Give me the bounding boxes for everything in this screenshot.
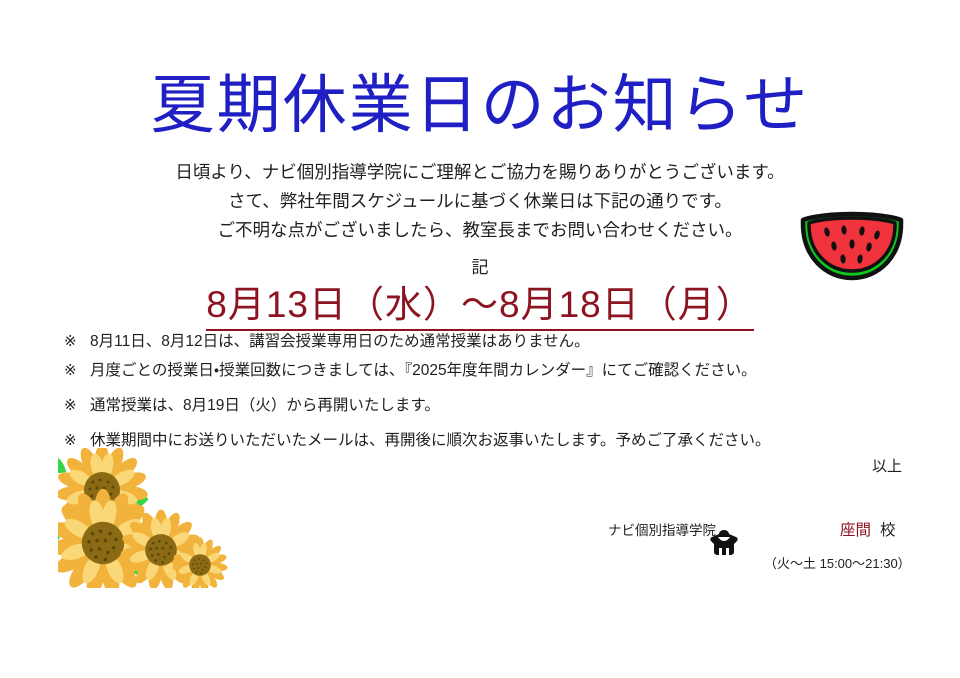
note-marker-icon: ※ (64, 362, 90, 380)
intro-line-1: 日頃より、ナビ個別指導学院にご理解とご協力を賜りありがとうございます。 (0, 158, 960, 187)
note-text: 8月11日、8月12日は、講習会授業専用日のため通常授業はありません。 (90, 333, 894, 351)
notes-list: ※ 8月11日、8月12日は、講習会授業専用日のため通常授業はありません。 ※ … (64, 333, 894, 450)
note-item: ※ 8月11日、8月12日は、講習会授業専用日のため通常授業はありません。 (64, 333, 894, 351)
closure-date-range: 8月13日（水）〜8月18日（月） (0, 283, 960, 331)
page-title: 夏期休業日のお知らせ (0, 72, 960, 139)
note-marker-icon: ※ (64, 397, 90, 415)
business-hours: （火〜土 15:00〜21:30） (764, 553, 911, 572)
sunflower-decoration-icon (58, 448, 243, 588)
note-text: 月度ごとの授業日・授業回数につきましては、『2025年度年間カレンダー』にてご確… (90, 362, 894, 380)
school-branch: 座間校 (840, 518, 896, 540)
brand-name: ナビ個別指導学院 (608, 519, 716, 539)
note-marker-icon: ※ (64, 333, 90, 351)
closure-date-text: 8月13日（水）〜8月18日（月） (206, 283, 753, 331)
navi-logo-mark-icon (708, 528, 740, 558)
note-item: ※ 月度ごとの授業日・授業回数につきましては、『2025年度年間カレンダー』にて… (64, 362, 894, 380)
note-item: ※ 通常授業は、8月19日（火）から再開いたします。 (64, 397, 894, 415)
watermelon-icon (797, 204, 907, 284)
note-text: 通常授業は、8月19日（火）から再開いたします。 (90, 397, 894, 415)
closing-label: 以上 (872, 455, 902, 476)
school-branch-name: 座間 (840, 522, 871, 539)
school-branch-suffix: 校 (880, 522, 896, 539)
notice-page: 夏期休業日のお知らせ 日頃より、ナビ個別指導学院にご理解とご協力を賜りありがとう… (0, 0, 960, 678)
